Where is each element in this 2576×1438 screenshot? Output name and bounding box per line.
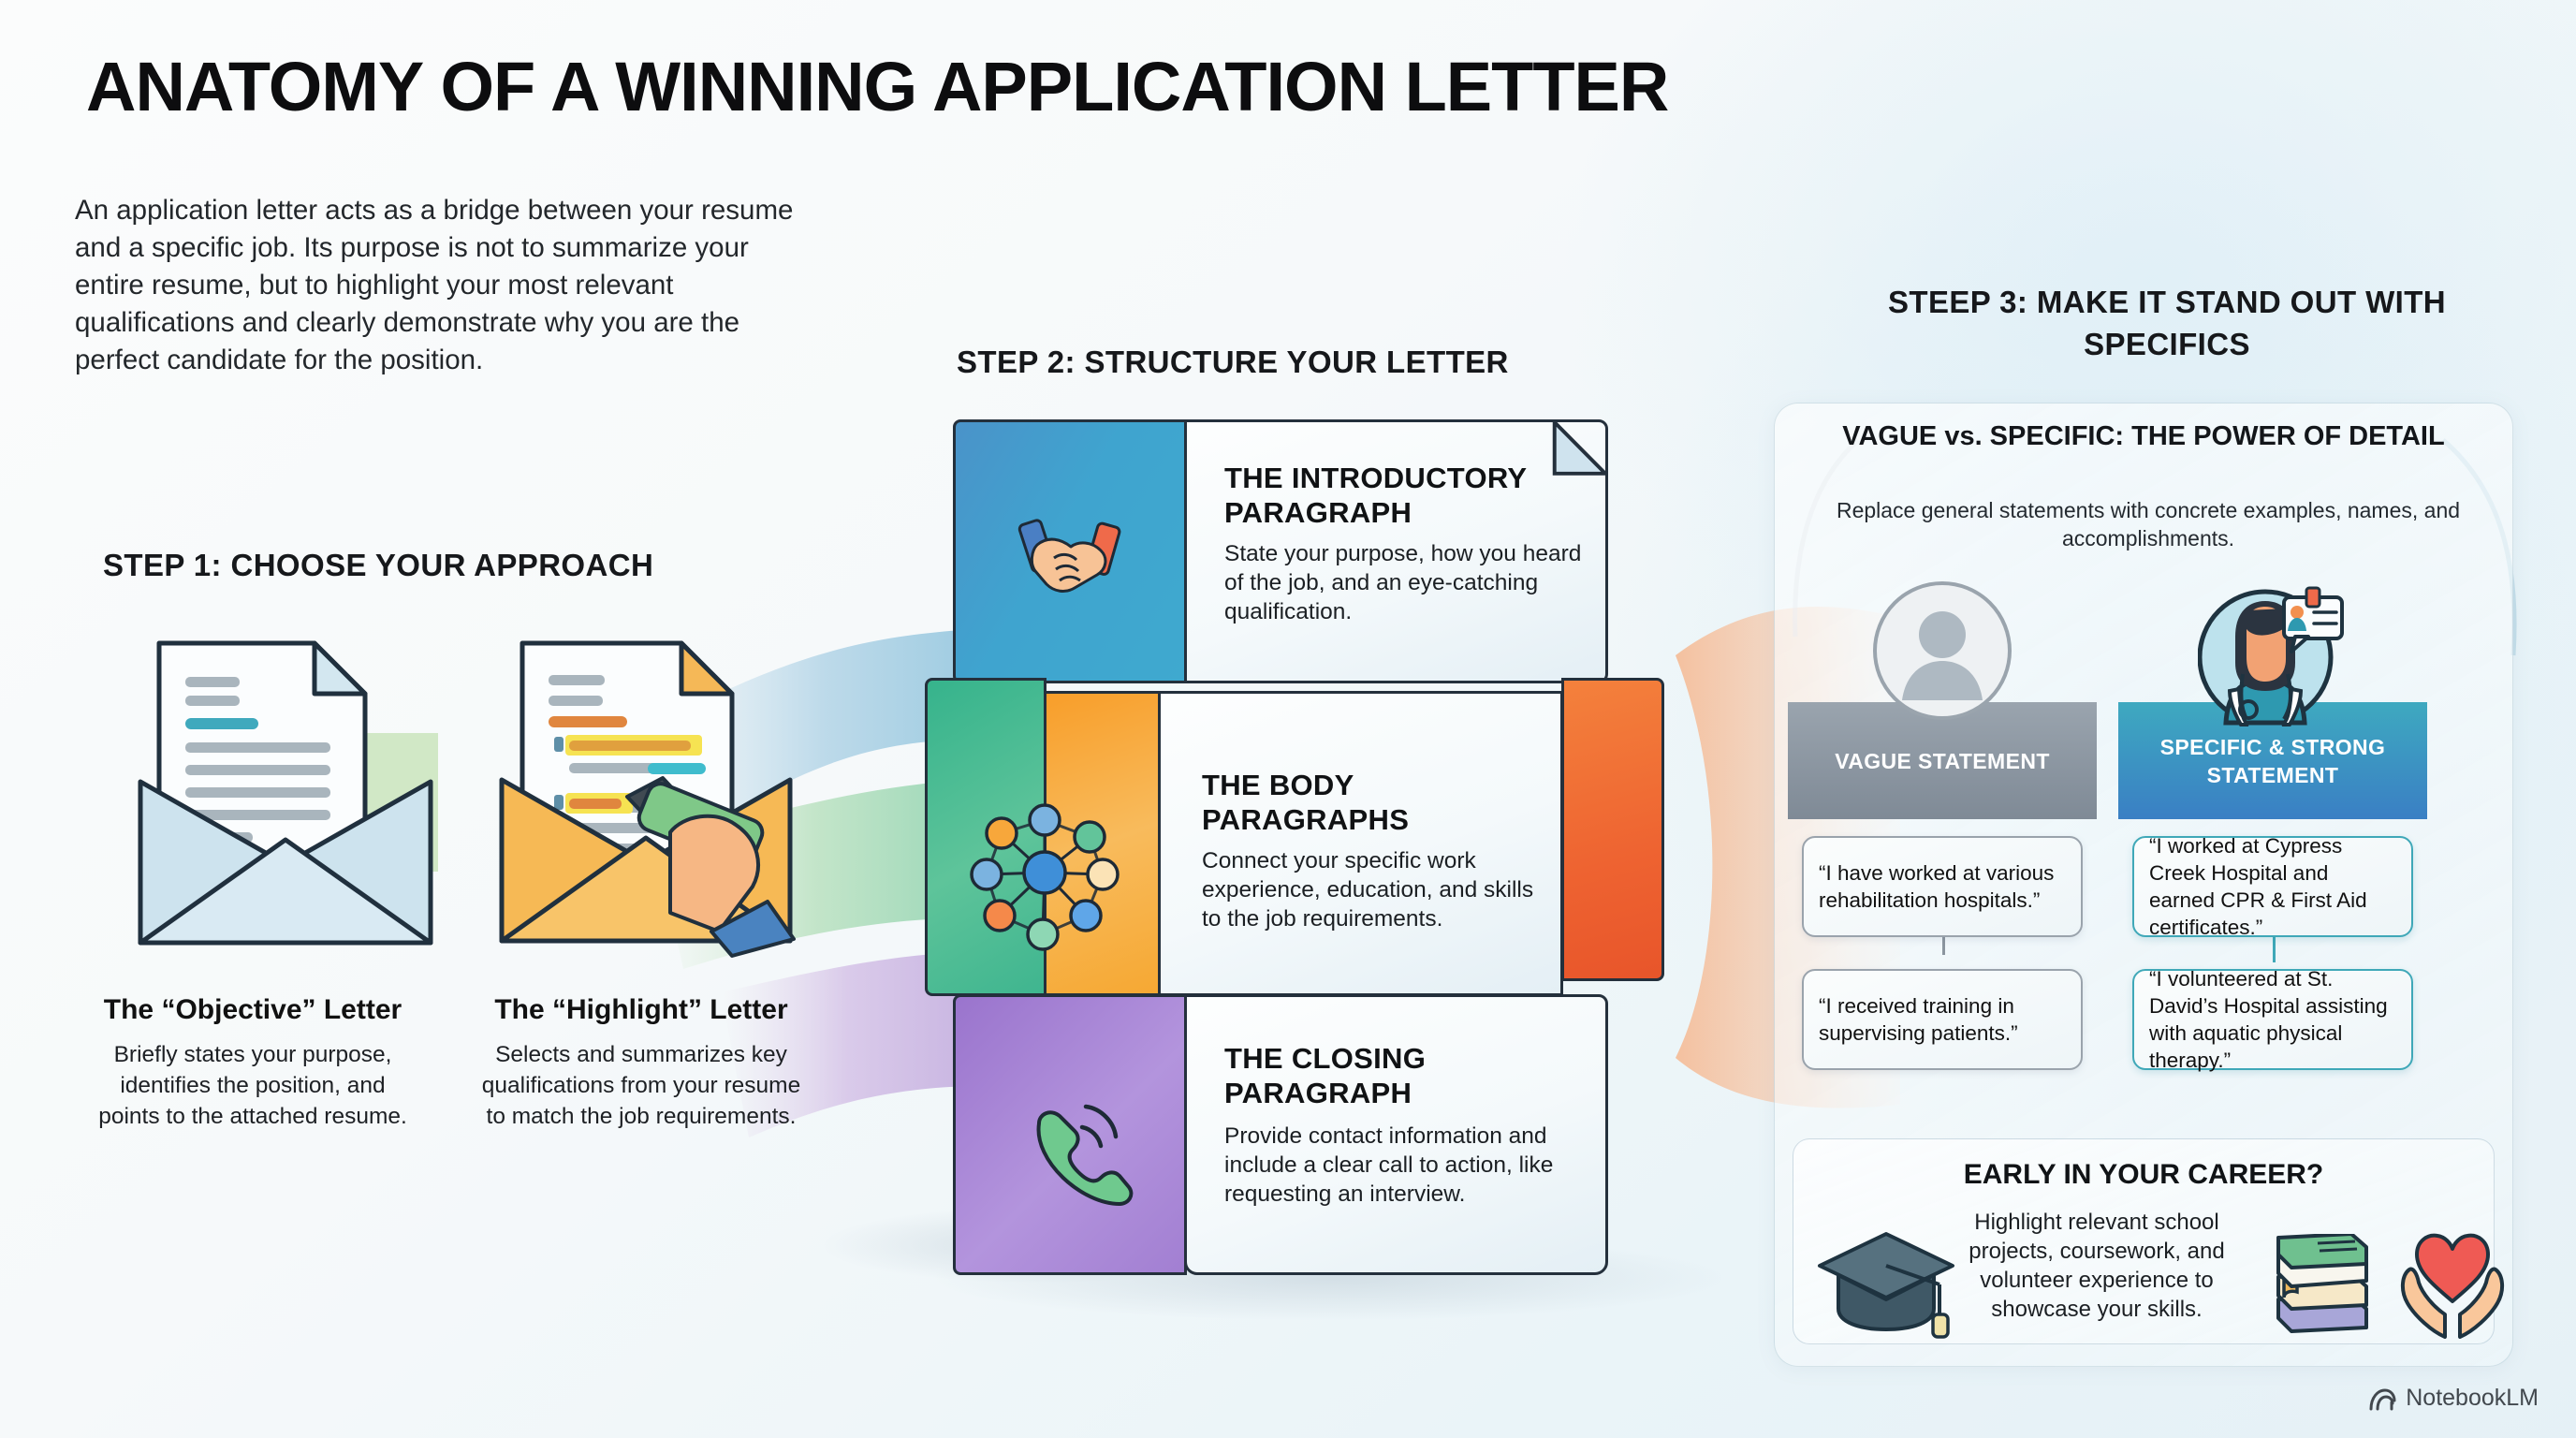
envelope-letter-icon [131, 623, 440, 969]
early-career-title: EARLY IN YOUR CAREER? [1793, 1159, 2495, 1191]
doctor-avatar-icon [2198, 580, 2348, 730]
specific-statement-column: SPECIFIC & STRONG STATEMENT “I worked at… [2118, 580, 2427, 1020]
card-body-red-slab [1561, 678, 1664, 981]
card-body-desc: Connect your specific work experience, e… [1202, 846, 1550, 933]
early-career-text: Highlight relevant school projects, cour… [1942, 1208, 2251, 1324]
vague-quote-1: “I have worked at various rehabilitation… [1802, 836, 2083, 937]
books-stack-icon [2265, 1234, 2378, 1337]
handshake-icon [1017, 509, 1124, 598]
objective-letter-desc: Briefly states your purpose, identifies … [89, 1039, 417, 1132]
vague-quote-2: “I received training in supervising pati… [1802, 969, 2083, 1070]
card-intro-desc: State your purpose, how you heard of the… [1224, 539, 1589, 626]
step2-heading: STEP 2: STRUCTURE YOUR LETTER [957, 345, 1509, 380]
card-intro-title: THE INTRODUCTORY PARAGRAPH [1224, 461, 1580, 530]
infographic-canvas: ANATOMY OF A WINNING APPLICATION LETTER … [0, 0, 2576, 1438]
specific-quote-1: “I worked at Cypress Creek Hospital and … [2132, 836, 2413, 937]
notebooklm-logo-icon [2368, 1387, 2396, 1411]
phone-ringing-icon [1024, 1099, 1136, 1207]
envelope-highlighter-icon [487, 623, 805, 969]
watermark-label: NotebookLM [2406, 1385, 2539, 1412]
card-body-paper [1158, 691, 1563, 996]
highlight-letter-desc: Selects and summarizes key qualification… [473, 1039, 810, 1132]
watermark: NotebookLM [2368, 1385, 2539, 1412]
specific-quote-2: “I volunteered at St. David’s Hospital a… [2132, 969, 2413, 1070]
intro-paragraph: An application letter acts as a bridge b… [75, 192, 824, 379]
page-title: ANATOMY OF A WINNING APPLICATION LETTER [86, 47, 1668, 126]
objective-letter-title: The “Objective” Letter [75, 994, 431, 1026]
highlight-letter-title: The “Highlight” Letter [459, 994, 824, 1026]
anonymous-avatar-icon [1872, 580, 2012, 721]
step3-note: Replace general statements with concrete… [1830, 496, 2466, 552]
vague-statement-column: VAGUE STATEMENT “I have worked at variou… [1788, 580, 2097, 1020]
card-closing-title: THE CLOSING PARAGRAPH [1224, 1041, 1580, 1110]
heart-in-hands-icon [2396, 1217, 2509, 1339]
card-closing-desc: Provide contact information and include … [1224, 1122, 1599, 1209]
card-closing-paragraph[interactable]: THE CLOSING PARAGRAPH Provide contact in… [953, 994, 1608, 1275]
step1-heading: STEP 1: CHOOSE YOUR APPROACH [103, 548, 653, 583]
card-body-title: THE BODY PARAGRAPHS [1202, 768, 1483, 837]
graduation-cap-icon [1816, 1226, 1956, 1339]
card-body-paragraphs[interactable]: THE BODY PARAGRAPHS Connect your specifi… [925, 678, 1664, 996]
step3-heading: STEEP 3: MAKE IT STAND OUT WITH SPECIFIC… [1839, 281, 2495, 365]
step3-subheading: VAGUE vs. SPECIFIC: THE POWER OF DETAIL [1839, 419, 2448, 453]
card-introductory-paragraph[interactable]: THE INTRODUCTORY PARAGRAPH State your pu… [953, 419, 1608, 683]
network-nodes-icon [960, 788, 1129, 957]
